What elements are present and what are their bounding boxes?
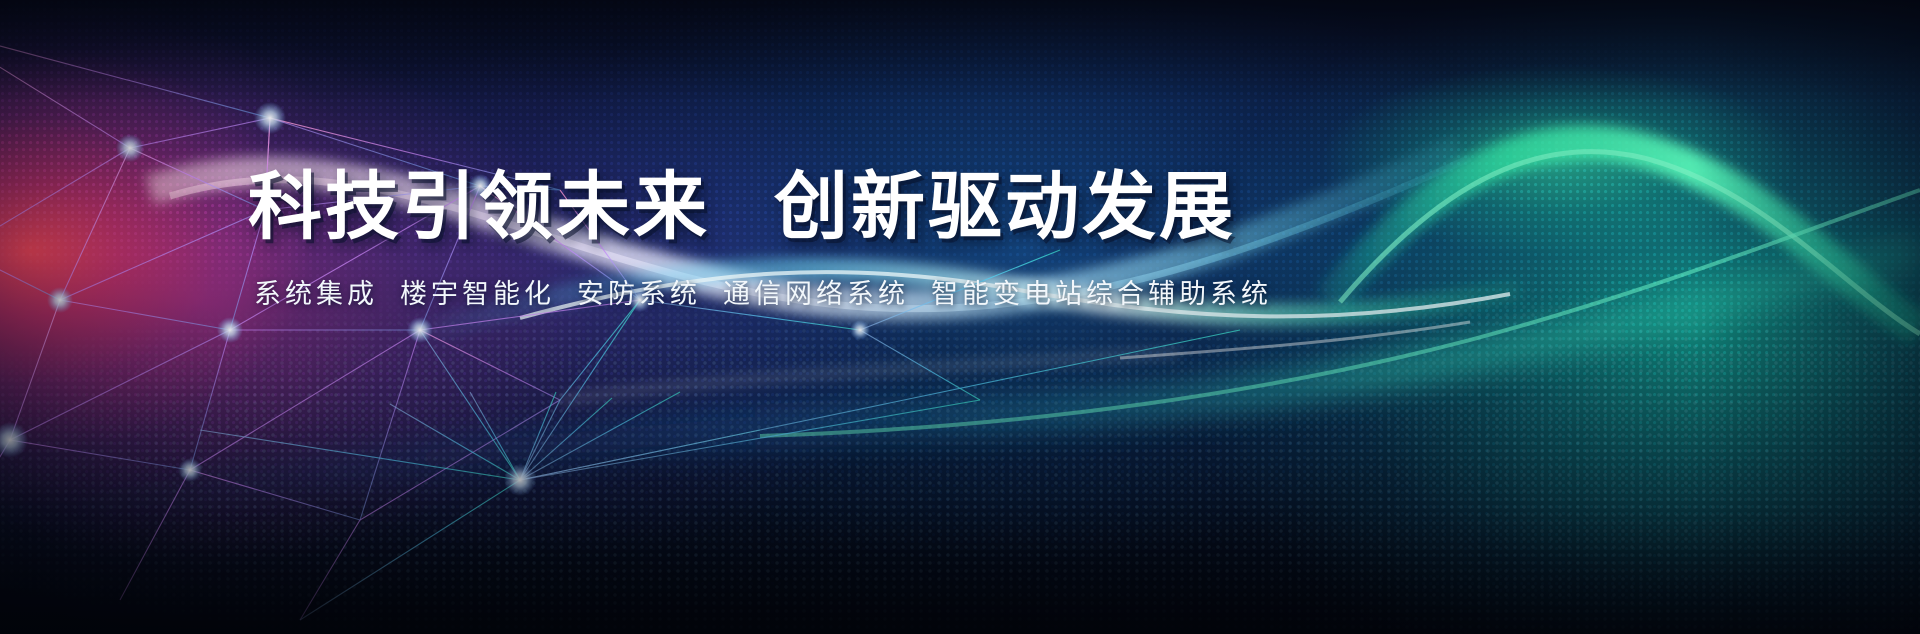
background-glow-purple bbox=[0, 0, 1920, 634]
polygon-network bbox=[0, 0, 1920, 634]
crest-green-upper-highlight bbox=[1340, 152, 1920, 334]
background-glow-blue bbox=[0, 0, 1920, 634]
wisp-subtitle-highlight bbox=[1120, 322, 1470, 358]
background-glow-magenta bbox=[0, 0, 1920, 634]
hero-banner: 科技引领未来创新驱动发展 系统集成楼宇智能化安防系统通信网络系统智能变电站综合辅… bbox=[0, 0, 1920, 634]
subtitle-item-5: 智能变电站综合辅助系统 bbox=[931, 279, 1272, 309]
network-edges-left bbox=[0, 30, 640, 620]
background-base bbox=[0, 0, 1920, 634]
banner-headline: 科技引领未来创新驱动发展 bbox=[248, 168, 1368, 246]
background-glow-red bbox=[0, 0, 1920, 634]
banner-content: 科技引领未来创新驱动发展 系统集成楼宇智能化安防系统通信网络系统智能变电站综合辅… bbox=[248, 168, 1368, 311]
background-glow-teal bbox=[0, 0, 1920, 634]
crest-green-upper bbox=[1330, 143, 1920, 330]
subtitle-item-2: 楼宇智能化 bbox=[400, 279, 555, 309]
wave-ribbon-group bbox=[0, 0, 1920, 634]
headline-phrase-1: 科技引领未来 bbox=[248, 165, 710, 248]
subtitle-item-3: 安防系统 bbox=[577, 279, 701, 309]
wisp-subtitle bbox=[560, 352, 1180, 400]
halftone-dots-accent bbox=[0, 0, 1920, 634]
halftone-dots-upper bbox=[0, 0, 1920, 634]
subtitle-item-4: 通信网络系统 bbox=[723, 279, 909, 309]
background-glow-green-crest bbox=[0, 0, 1920, 634]
background-vignette bbox=[0, 0, 1920, 634]
halftone-dots-lower bbox=[0, 0, 1920, 634]
headline-phrase-2: 创新驱动发展 bbox=[774, 165, 1236, 248]
banner-subtitle: 系统集成楼宇智能化安防系统通信网络系统智能变电站综合辅助系统 bbox=[254, 272, 1368, 311]
subtitle-item-1: 系统集成 bbox=[254, 279, 378, 309]
